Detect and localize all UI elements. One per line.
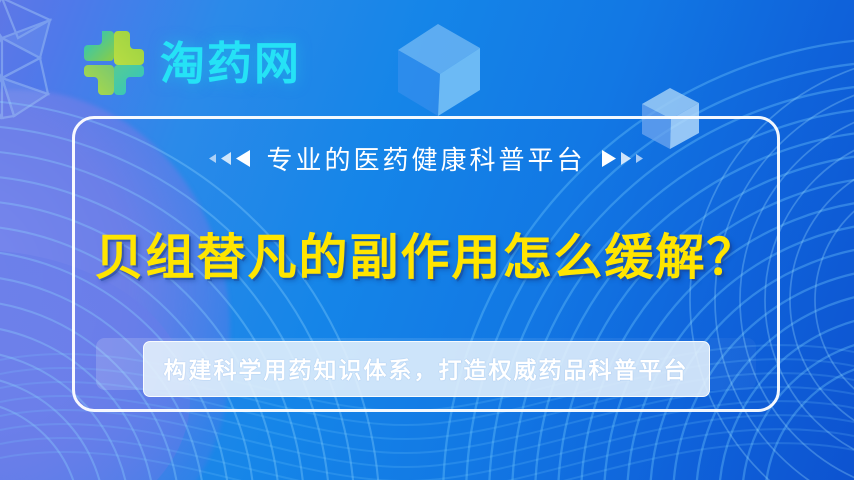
- triangle-right-icon-small: [636, 154, 643, 163]
- medical-cross-logo-icon: [76, 27, 148, 99]
- footer-banner-text: 构建科学用药知识体系，打造权威药品科普平台: [164, 358, 689, 384]
- triangle-left-icon-large: [236, 150, 250, 167]
- triangle-left-icons: [209, 150, 250, 167]
- triangle-left-icon-small: [209, 154, 216, 163]
- triangle-left-icon-medium: [221, 152, 231, 165]
- tagline-text: 专业的医药健康科普平台: [266, 140, 585, 177]
- isometric-cube-icon-top: [392, 20, 486, 124]
- triangle-right-icons: [602, 150, 643, 167]
- triangle-right-icon-large: [602, 150, 616, 167]
- promo-poster: 淘药网 专业的医药健康科普平台 贝组替凡的副作用怎么缓解？ 构建科学用药知识体系…: [0, 0, 854, 480]
- brand-name: 淘药网: [160, 41, 301, 86]
- footer-banner-pill: 构建科学用药知识体系，打造权威药品科普平台: [143, 341, 710, 397]
- footer-banner-row: 构建科学用药知识体系，打造权威药品科普平台: [72, 341, 780, 397]
- tagline-row: 专业的医药健康科普平台: [72, 140, 780, 177]
- headline-text: 贝组替凡的副作用怎么缓解？: [94, 229, 757, 286]
- brand-lockup: 淘药网: [76, 27, 301, 99]
- headline-block: 贝组替凡的副作用怎么缓解？: [72, 218, 780, 289]
- triangle-right-icon-medium: [621, 152, 631, 165]
